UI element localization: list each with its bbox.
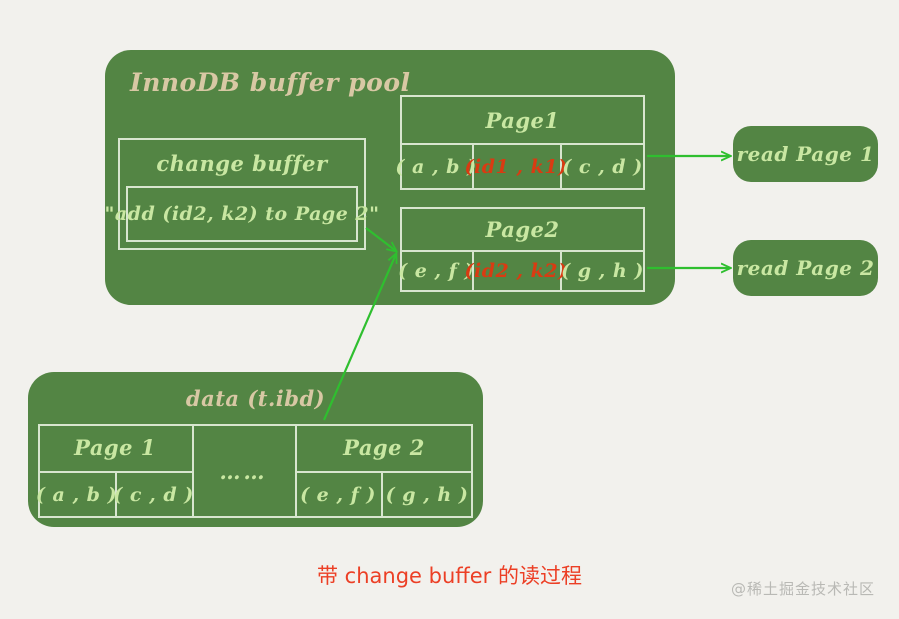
data-page2-cell-1: ( g , h ) (381, 471, 473, 518)
buffer-pool-title: InnoDB buffer pool (130, 66, 390, 98)
buffer-page2-cell-2: ( g , h ) (560, 250, 645, 292)
change-buffer-note: "add (id2, k2) to Page 2" (126, 186, 358, 242)
buffer-page1-cell-2: ( c , d ) (560, 143, 645, 190)
read-page1-label: read Page 1 (733, 126, 878, 182)
diagram-canvas: InnoDB buffer pool change buffer "add (i… (0, 0, 899, 619)
data-page2-header: Page 2 (295, 424, 473, 471)
buffer-page1-cell-1: (id1 , k1) (472, 143, 560, 190)
buffer-page2-cell-1: (id2 , k2) (472, 250, 560, 292)
watermark: @稀土掘金技术社区 (731, 578, 875, 599)
read-page2-label: read Page 2 (733, 240, 878, 296)
buffer-page2-header: Page2 (400, 208, 645, 250)
data-file-title: data (t.ibd) (28, 382, 483, 414)
data-page1-header: Page 1 (38, 424, 192, 471)
change-buffer-title: change buffer (118, 146, 366, 180)
buffer-page1-cell-0: ( a , b ) (400, 143, 472, 190)
buffer-page1-header: Page1 (400, 97, 645, 143)
buffer-page2-cell-0: ( e , f ) (400, 250, 472, 292)
data-ellipsis: …… (192, 424, 295, 518)
data-page2-cell-0: ( e , f ) (295, 471, 381, 518)
data-page1-cell-0: ( a , b ) (38, 471, 115, 518)
data-page1-cell-1: ( c , d ) (115, 471, 192, 518)
